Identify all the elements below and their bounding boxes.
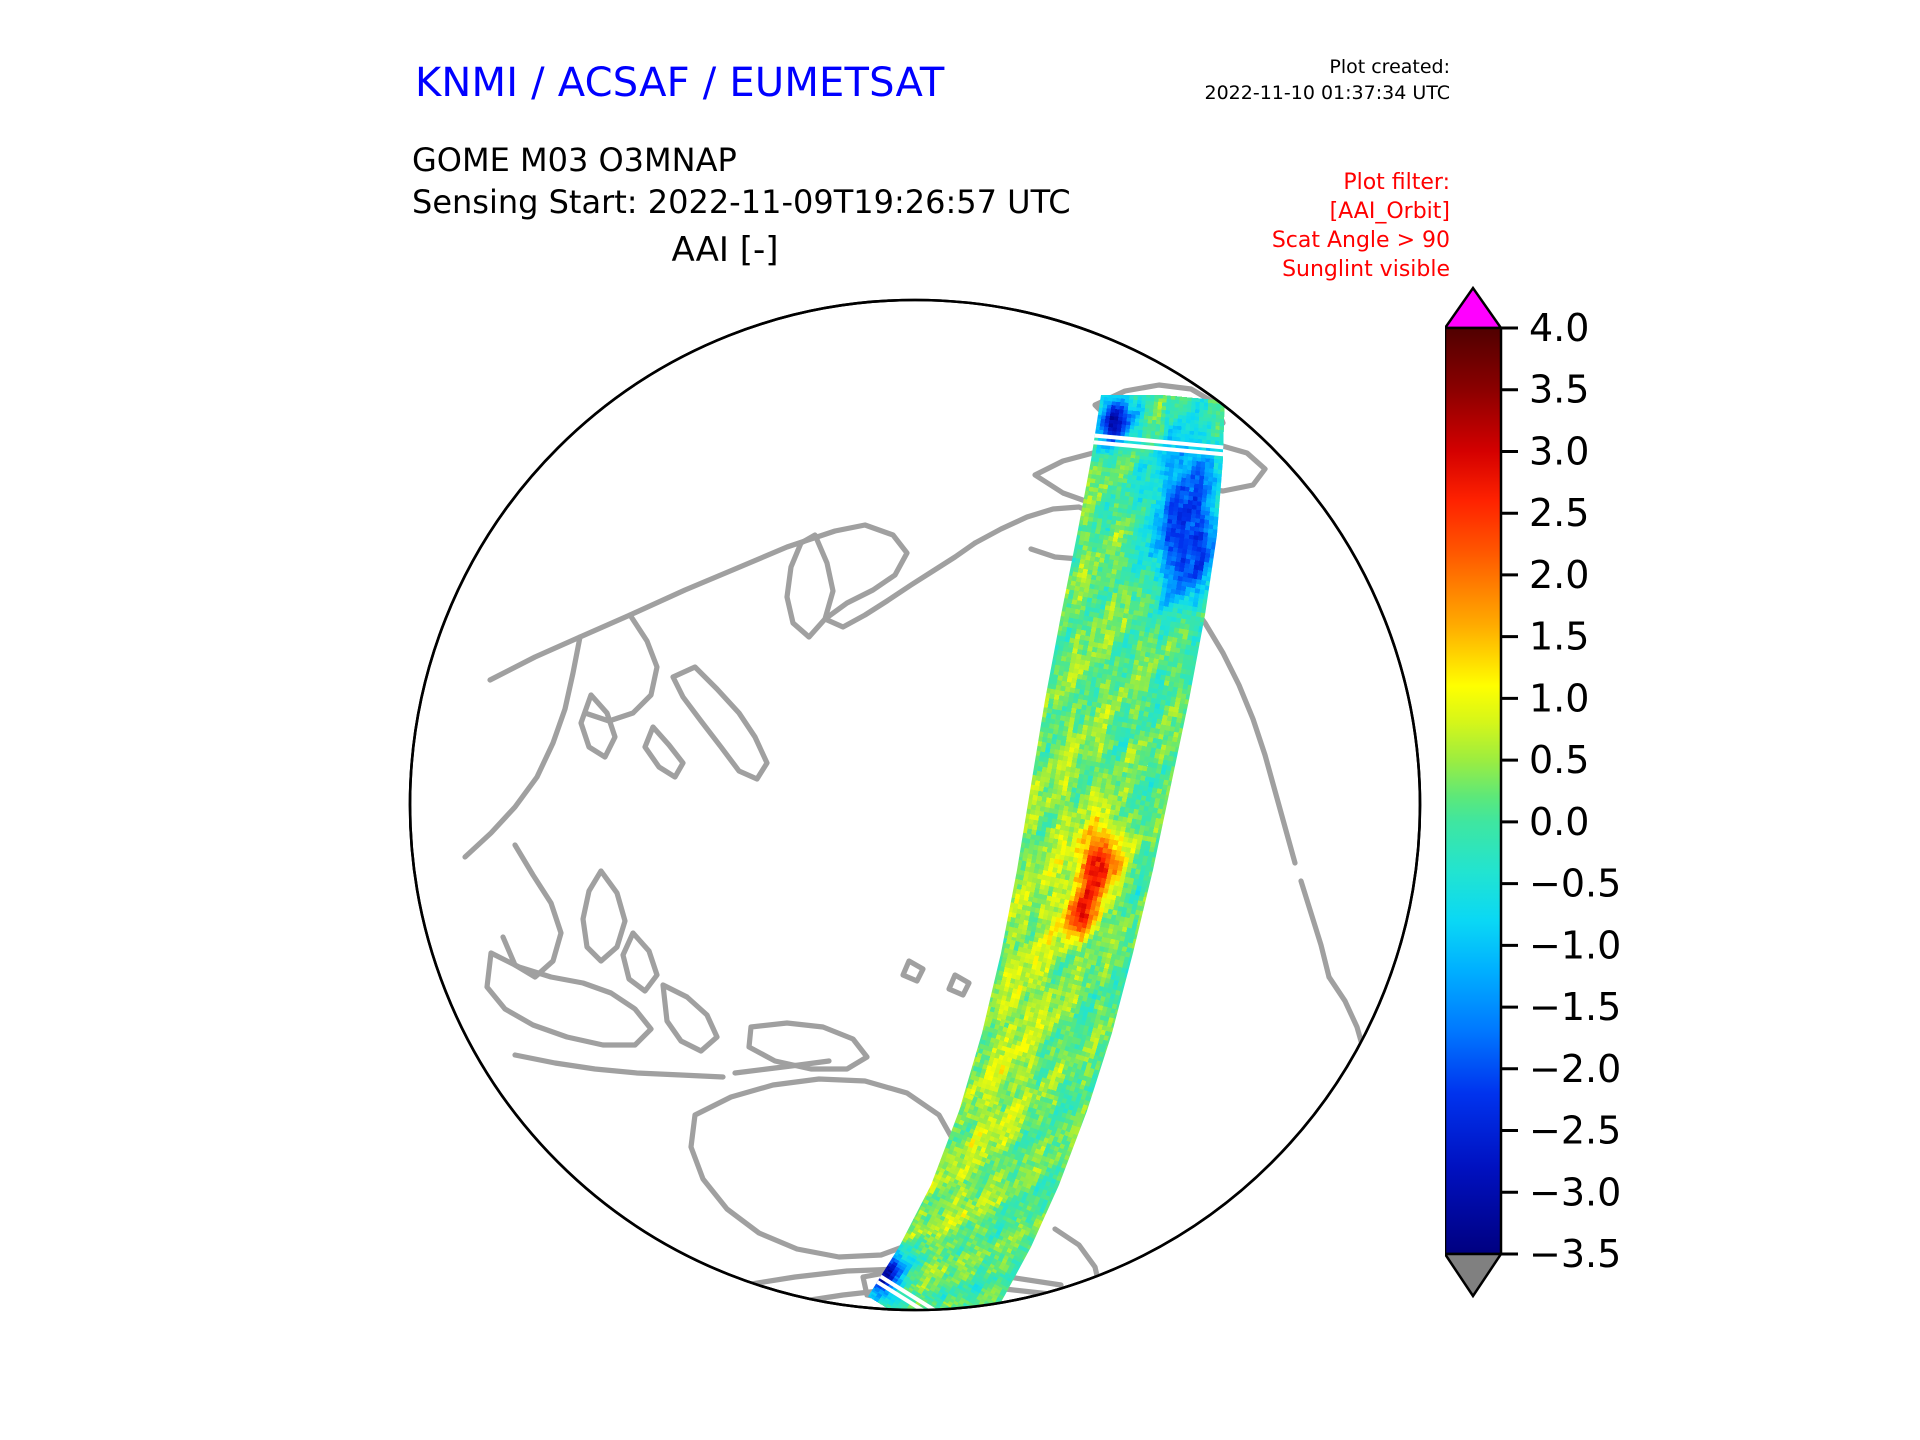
product-name: GOME M03 O3MNAP	[412, 140, 1071, 182]
plot-created-block: Plot created: 2022-11-10 01:37:34 UTC	[1120, 55, 1450, 106]
map-panel	[395, 285, 1435, 1325]
colorbar-tick-label: 2.5	[1529, 491, 1589, 535]
plot-filter-block: Plot filter: [AAI_Orbit] Scat Angle > 90…	[1150, 168, 1450, 284]
colorbar-tick-label: −1.0	[1529, 923, 1621, 967]
colorbar-tick-label: 3.0	[1529, 429, 1589, 473]
colorbar-tick-label: 1.5	[1529, 615, 1589, 659]
colorbar-tick-label: 3.5	[1529, 368, 1589, 412]
plot-created-value: 2022-11-10 01:37:34 UTC	[1120, 81, 1450, 107]
colorbar-tick-label: −3.0	[1529, 1170, 1621, 1214]
colorbar-tick-label: 1.0	[1529, 676, 1589, 720]
organisation-title: KNMI / ACSAF / EUMETSAT	[415, 60, 945, 106]
colorbar-tick-label: −3.5	[1529, 1232, 1621, 1276]
colorbar-tick-label: 4.0	[1529, 306, 1589, 350]
colorbar-tick-label: −1.5	[1529, 985, 1621, 1029]
product-info-block: GOME M03 O3MNAP Sensing Start: 2022-11-0…	[412, 140, 1071, 223]
colorbar-tick-label: 0.5	[1529, 738, 1589, 782]
plot-created-label: Plot created:	[1120, 55, 1450, 81]
colorbar-tick-label: −2.5	[1529, 1109, 1621, 1153]
plot-filter-sunglint: Sunglint visible	[1150, 255, 1450, 284]
colorbar-tick-label: 0.0	[1529, 800, 1589, 844]
orthographic-globe	[395, 285, 1435, 1325]
colorbar: 4.03.53.02.52.01.51.00.50.0−0.5−1.0−1.5−…	[1445, 280, 1775, 1340]
plot-page: KNMI / ACSAF / EUMETSAT Plot created: 20…	[0, 0, 1920, 1440]
colorbar-under-arrow	[1445, 1254, 1501, 1296]
plot-filter-label: Plot filter:	[1150, 168, 1450, 197]
plot-filter-name: [AAI_Orbit]	[1150, 197, 1450, 226]
sensing-start: Sensing Start: 2022-11-09T19:26:57 UTC	[412, 182, 1071, 224]
colorbar-tick-label: −0.5	[1529, 862, 1621, 906]
colorbar-tick-label: 2.0	[1529, 553, 1589, 597]
globe-outline	[410, 300, 1420, 1310]
colorbar-over-arrow	[1445, 288, 1501, 328]
colorbar-panel: 4.03.53.02.52.01.51.00.50.0−0.5−1.0−1.5−…	[1445, 280, 1775, 1340]
plot-filter-scat-angle: Scat Angle > 90	[1150, 226, 1450, 255]
colorbar-tick-label: −2.0	[1529, 1047, 1621, 1091]
colorbar-gradient	[1445, 328, 1501, 1254]
